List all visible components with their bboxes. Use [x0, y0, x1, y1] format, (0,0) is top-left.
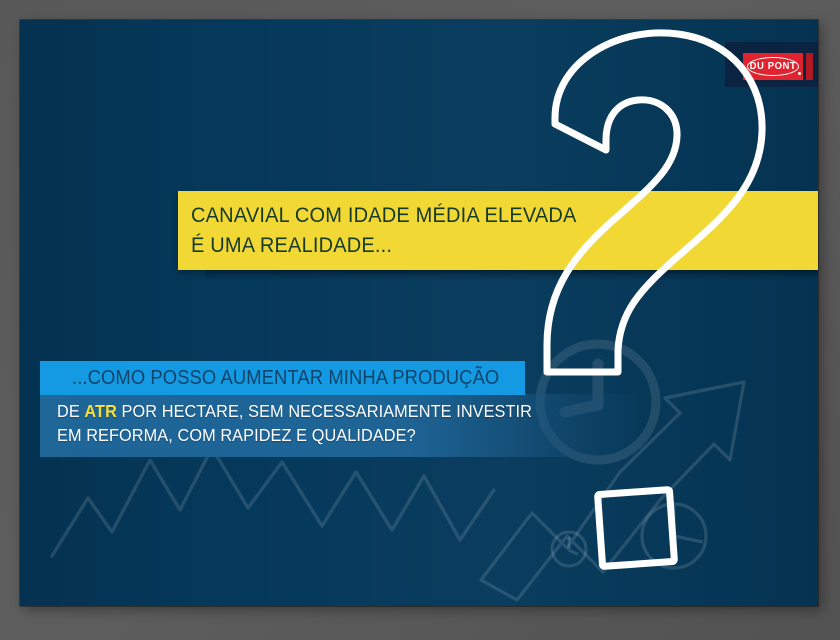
screenshot-canvas: CANAVIAL COM IDADE MÉDIA ELEVADA É UMA R… — [0, 0, 840, 640]
presentation-slide: CANAVIAL COM IDADE MÉDIA ELEVADA É UMA R… — [20, 20, 818, 606]
question-body-prefix: DE — [57, 401, 84, 421]
question-body-rest: POR HECTARE, SEM NECESSARIAMENTE INVESTI… — [57, 401, 532, 445]
dupont-logo: DU PONT — [725, 42, 818, 87]
question-body-highlight: ATR — [84, 401, 117, 421]
question-lead-banner: ...COMO POSSO AUMENTAR MINHA PRODUÇÃO — [40, 361, 525, 395]
logo-registered-dot — [798, 72, 801, 75]
slide-background-vignette — [20, 20, 818, 606]
question-body-text: DE ATR POR HECTARE, SEM NECESSARIAMENTE … — [57, 399, 532, 447]
headline-text: CANAVIAL COM IDADE MÉDIA ELEVADA É UMA R… — [191, 200, 577, 260]
question-lead-text: ...COMO POSSO AUMENTAR MINHA PRODUÇÃO — [72, 364, 499, 392]
logo-red-accent — [806, 53, 813, 80]
headline-banner: CANAVIAL COM IDADE MÉDIA ELEVADA É UMA R… — [178, 191, 818, 270]
question-body-banner: DE ATR POR HECTARE, SEM NECESSARIAMENTE … — [40, 394, 640, 457]
logo-wordmark: DU PONT — [748, 57, 797, 76]
